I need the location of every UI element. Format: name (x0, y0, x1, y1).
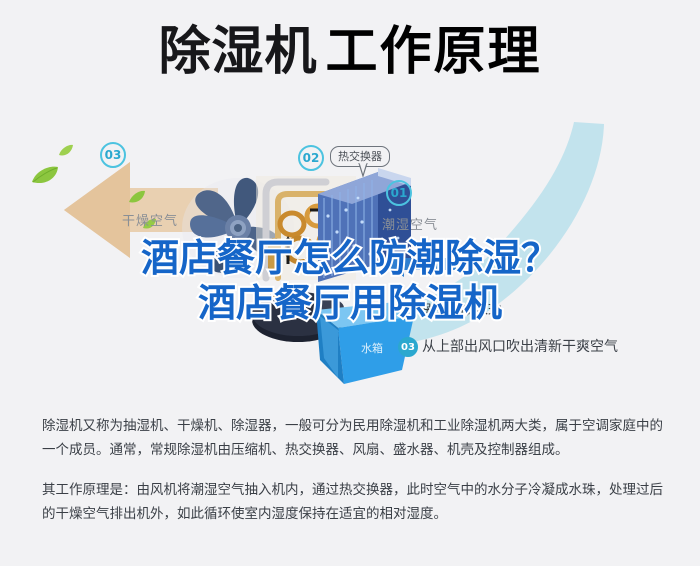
body-paragraph-2: 其工作原理是：由风机将潮湿空气抽入机内，通过热交换器，此时空气中的水分子冷凝成水… (42, 478, 666, 526)
page-title-part1: 除湿机 (158, 22, 317, 82)
intake-arrow-icon (382, 250, 456, 278)
badge-03-dry-air: 03 (100, 142, 126, 168)
page-title-part2: 工作原理 (326, 21, 542, 82)
article-body: 除湿机又称为抽湿机、干燥机、除湿器，一般可分为民用除湿机和工业除湿机两大类，属于… (42, 414, 666, 526)
svg-text:水箱: 水箱 (361, 341, 383, 355)
leaf-icon (58, 144, 74, 158)
badge-02-heat-exchanger: 02 (298, 145, 324, 171)
body-paragraph-1: 除湿机又称为抽湿机、干燥机、除湿器，一般可分为民用除湿机和工业除湿机两大类，属于… (42, 414, 666, 462)
leaf-icon (30, 164, 60, 188)
dry-air-label: 干燥空气 (122, 210, 178, 229)
page-title: 除湿机工作原理 (0, 26, 700, 78)
note-badge-03: 03 (398, 337, 418, 357)
callout-tail-icon (358, 163, 368, 177)
humid-air-label: 潮湿空气 (382, 214, 438, 233)
note-clean-air-output: 从上部出风口吹出清新干爽空气 (422, 336, 618, 356)
infographic-page: 除湿机工作原理 (0, 0, 700, 566)
leaf-icon (128, 190, 146, 205)
badge-01-humid-air: 01 (386, 180, 412, 206)
dehumidifier-diagram: 水箱 水箱 03 02 01 热交换器 干燥空气 潮湿空气 发器冷凝成水珠 03… (0, 118, 700, 408)
paragraph-spacer (42, 462, 666, 478)
note-condensation: 发器冷凝成水珠 (404, 300, 502, 320)
